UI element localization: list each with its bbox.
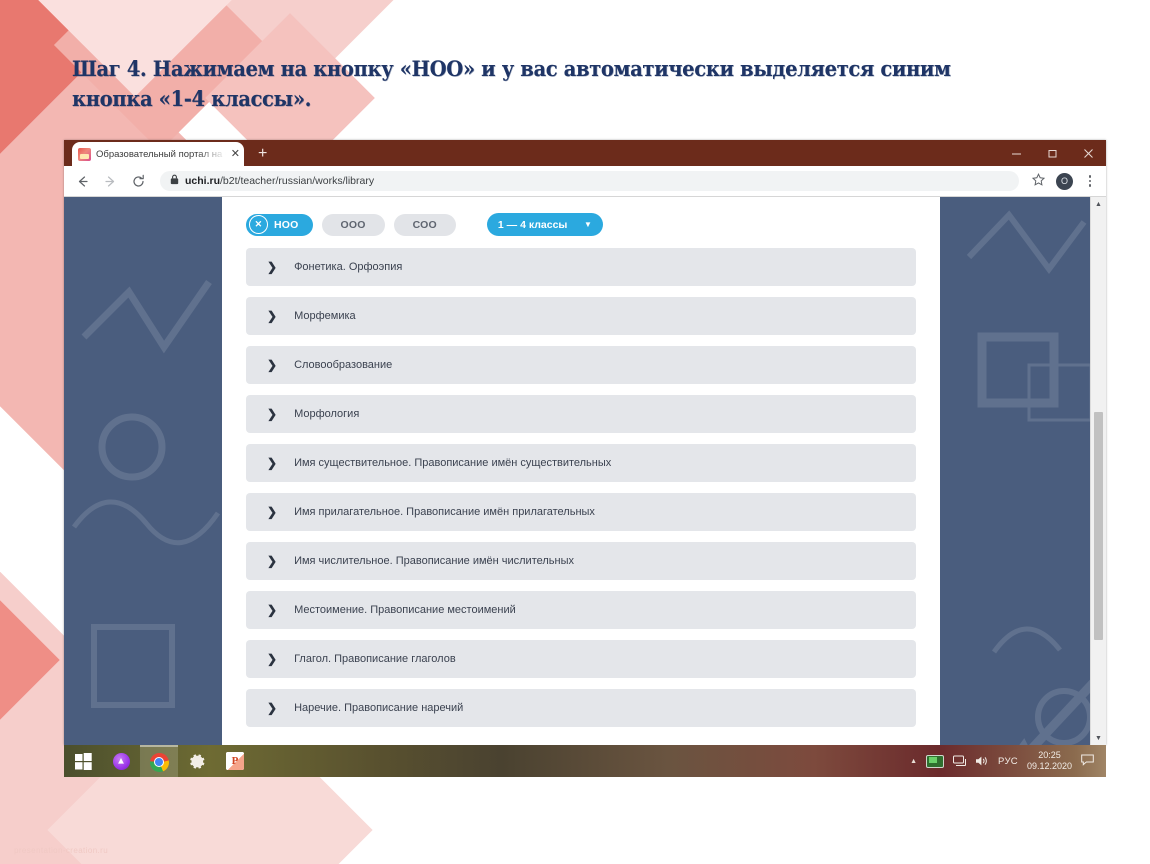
topic-label: Морфемика: [294, 310, 356, 322]
browser-title-bar: Образовательный портал на ба ✕ +: [64, 140, 1106, 166]
close-icon[interactable]: [1070, 140, 1106, 166]
page-title: Шаг 4. Нажимаем на кнопку «НОО» и у вас …: [72, 54, 1011, 114]
clock-date: 09.12.2020: [1027, 761, 1072, 772]
powerpoint-glyph: P: [232, 756, 239, 767]
grade-select[interactable]: 1 — 4 классы ▼: [487, 213, 603, 236]
back-arrow-icon[interactable]: [74, 173, 91, 190]
url-domain: uchi.ru: [185, 175, 220, 187]
kebab-menu-icon[interactable]: [1084, 175, 1096, 187]
filter-chip-label: НОО: [274, 219, 299, 231]
chevron-right-icon: ❯: [267, 506, 277, 518]
decor-diamond: [0, 490, 60, 829]
topic-label: Местоимение. Правописание местоимений: [294, 604, 516, 616]
forward-arrow-icon[interactable]: [102, 173, 119, 190]
clock[interactable]: 20:25 09.12.2020: [1027, 750, 1072, 772]
system-tray: ▲ РУС 20:25 09.12.2020: [910, 750, 1106, 772]
topic-label: Наречие. Правописание наречий: [294, 702, 463, 714]
filter-chip-ooo[interactable]: ООО: [322, 214, 385, 236]
filter-chip-label: СОО: [413, 219, 437, 231]
browser-toolbar: uchi.ru/b2t/teacher/russian/works/librar…: [64, 166, 1106, 197]
topic-label: Морфология: [294, 408, 359, 420]
clock-time: 20:25: [1027, 750, 1072, 761]
windows-start-icon[interactable]: [64, 745, 102, 777]
filter-chip-soo[interactable]: СОО: [394, 214, 456, 236]
address-bar-text: uchi.ru/b2t/teacher/russian/works/librar…: [185, 175, 374, 187]
page-viewport: ✕ НОО ООО СОО 1 — 4 классы ▼ ❯ Фонетика.…: [64, 197, 1106, 746]
topic-row[interactable]: ❯ Глагол. Правописание глаголов: [246, 640, 916, 678]
topic-label: Словообразование: [294, 359, 392, 371]
battery-icon[interactable]: [926, 755, 944, 768]
reload-icon[interactable]: [130, 173, 147, 190]
scrollbar-thumb[interactable]: [1094, 412, 1103, 640]
browser-tab[interactable]: Образовательный портал на ба ✕: [72, 142, 244, 166]
avatar[interactable]: O: [1056, 173, 1073, 190]
topic-label: Фонетика. Орфоэпия: [294, 261, 402, 273]
topic-label: Имя существительное. Правописание имён с…: [294, 457, 611, 469]
filter-chip-noo[interactable]: ✕ НОО: [246, 214, 313, 236]
topic-row[interactable]: ❯ Местоимение. Правописание местоимений: [246, 591, 916, 629]
taskbar-apps: P: [64, 745, 254, 777]
star-icon[interactable]: [1032, 173, 1045, 189]
content-panel: ✕ НОО ООО СОО 1 — 4 классы ▼ ❯ Фонетика.…: [222, 197, 940, 746]
lock-icon: [170, 172, 179, 190]
chevron-right-icon: ❯: [267, 653, 277, 665]
windows-taskbar: P ▲ РУС 20:25 09.12.2020: [64, 745, 1106, 777]
topic-row[interactable]: ❯ Словообразование: [246, 346, 916, 384]
new-tab-button[interactable]: +: [258, 146, 267, 162]
topic-label: Глагол. Правописание глаголов: [294, 653, 456, 665]
browser-window: Образовательный портал на ба ✕ +: [64, 140, 1106, 745]
topic-row[interactable]: ❯ Имя прилагательное. Правописание имён …: [246, 493, 916, 531]
settings-gear-icon[interactable]: [178, 745, 216, 777]
cortana-icon[interactable]: [102, 745, 140, 777]
watermark: presentation-creation.ru: [14, 846, 108, 855]
address-bar[interactable]: uchi.ru/b2t/teacher/russian/works/librar…: [160, 171, 1019, 191]
restore-icon[interactable]: [1034, 140, 1070, 166]
close-circle-icon[interactable]: ✕: [249, 215, 268, 234]
powerpoint-icon[interactable]: P: [216, 745, 254, 777]
chevron-right-icon: ❯: [267, 555, 277, 567]
filter-chip-label: ООО: [341, 219, 366, 231]
scroll-up-icon[interactable]: ▲: [1091, 197, 1106, 212]
topic-list: ❯ Фонетика. Орфоэпия ❯ Морфемика ❯ Слово…: [222, 236, 940, 727]
chevron-down-icon: ▼: [584, 220, 592, 229]
topic-row[interactable]: ❯ Имя существительное. Правописание имён…: [246, 444, 916, 482]
window-controls: [998, 140, 1106, 166]
minimize-icon[interactable]: [998, 140, 1034, 166]
topic-row[interactable]: ❯ Морфемика: [246, 297, 916, 335]
language-indicator[interactable]: РУС: [998, 756, 1018, 767]
topic-row[interactable]: ❯ Имя числительное. Правописание имён чи…: [246, 542, 916, 580]
chevron-right-icon: ❯: [267, 408, 277, 420]
vertical-scrollbar[interactable]: ▲ ▼: [1090, 197, 1106, 746]
chevron-right-icon: ❯: [267, 310, 277, 322]
tab-title: Образовательный портал на ба: [96, 149, 226, 160]
url-path: /b2t/teacher/russian/works/library: [220, 175, 374, 187]
chrome-icon[interactable]: [140, 745, 178, 777]
filter-row: ✕ НОО ООО СОО 1 — 4 классы ▼: [222, 197, 940, 236]
chevron-right-icon: ❯: [267, 359, 277, 371]
volume-icon[interactable]: [975, 755, 989, 767]
topic-row[interactable]: ❯ Наречие. Правописание наречий: [246, 689, 916, 727]
chevron-right-icon: ❯: [267, 261, 277, 273]
topic-row[interactable]: ❯ Морфология: [246, 395, 916, 433]
uchi-favicon-icon: [78, 148, 91, 161]
network-icon[interactable]: [953, 755, 966, 767]
grade-select-value: 1 — 4 классы: [498, 219, 567, 231]
tray-expand-icon[interactable]: ▲: [910, 758, 917, 765]
topic-label: Имя прилагательное. Правописание имён пр…: [294, 506, 595, 518]
chevron-right-icon: ❯: [267, 457, 277, 469]
tab-close-icon[interactable]: ✕: [231, 149, 240, 160]
scroll-down-icon[interactable]: ▼: [1091, 731, 1106, 746]
topic-label: Имя числительное. Правописание имён числ…: [294, 555, 574, 567]
notification-icon[interactable]: [1081, 754, 1094, 769]
chevron-right-icon: ❯: [267, 702, 277, 714]
topic-row[interactable]: ❯ Фонетика. Орфоэпия: [246, 248, 916, 286]
chevron-right-icon: ❯: [267, 604, 277, 616]
